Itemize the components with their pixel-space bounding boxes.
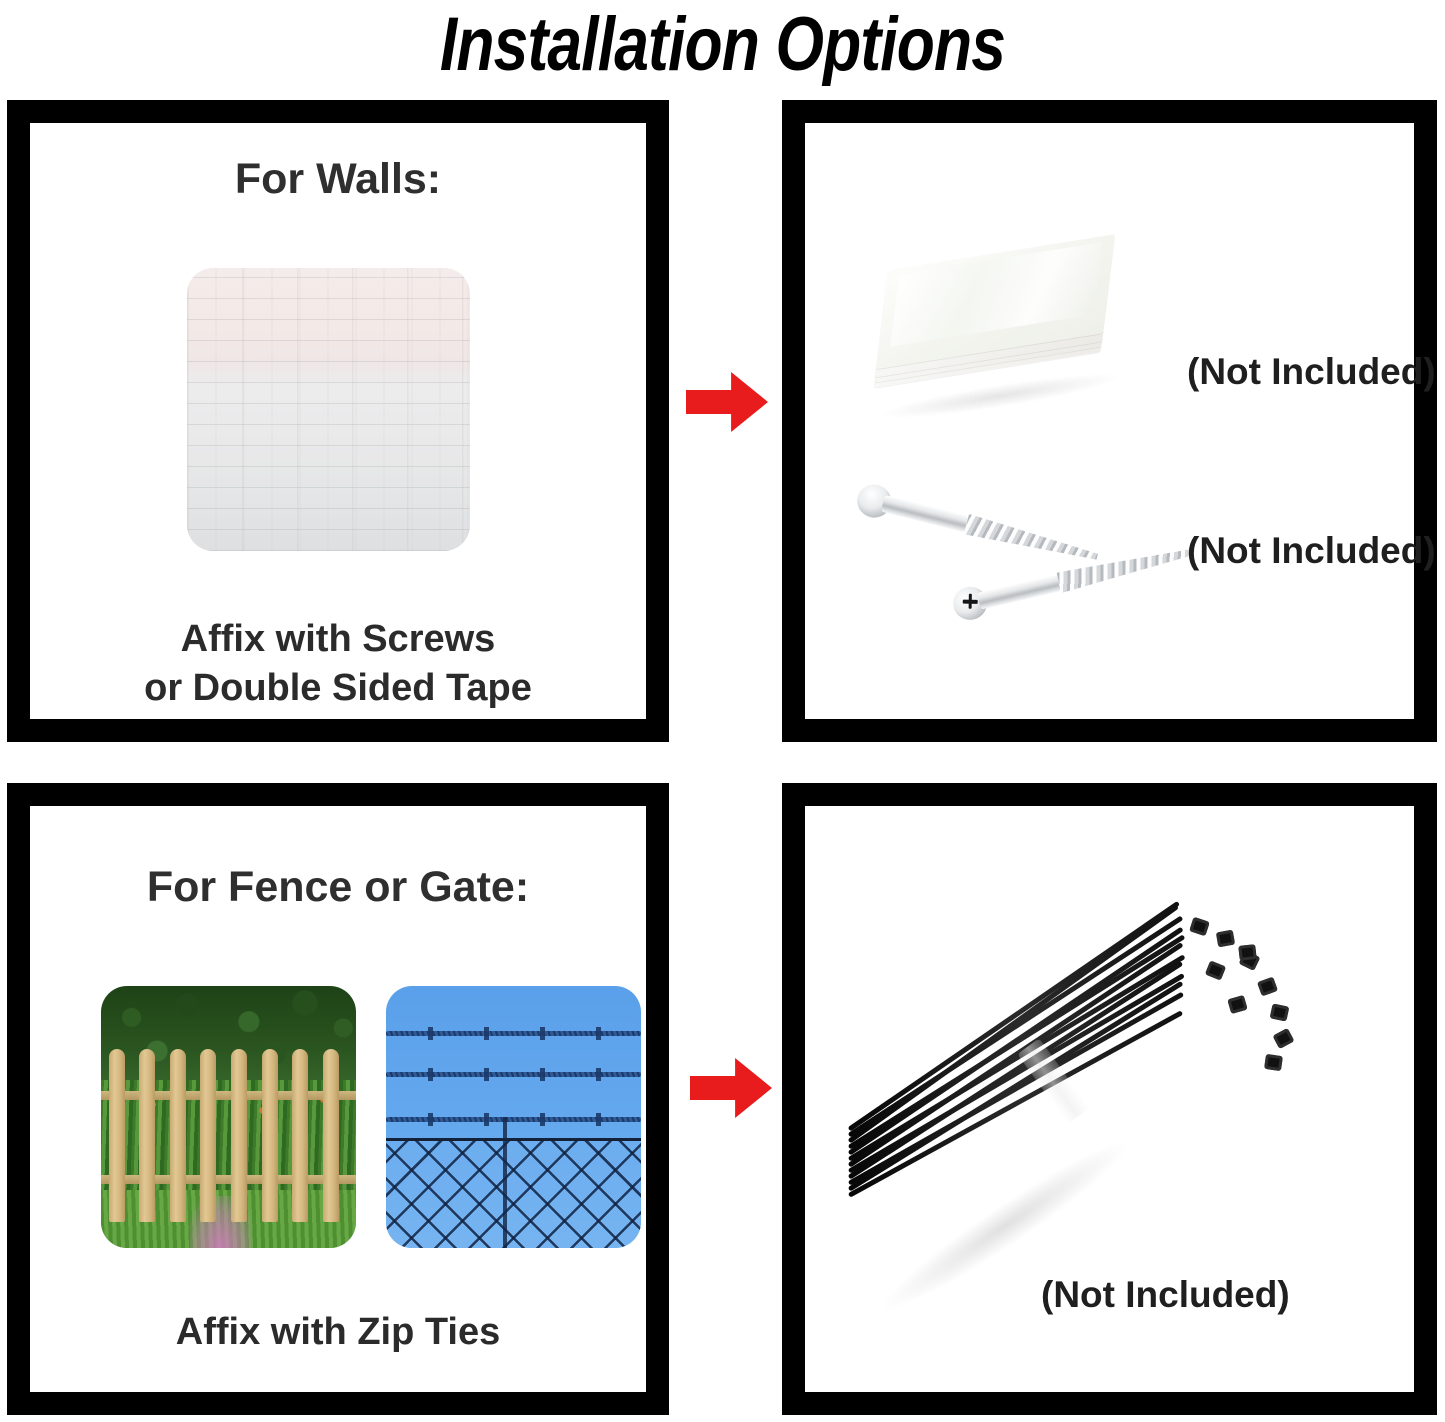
zip-ties-not-included-label: (Not Included) [1041,1274,1290,1316]
zip-tie-bundle-icon [835,901,1315,1251]
walls-heading: For Walls: [30,155,646,203]
walls-caption-line-1: Affix with Screws [30,615,646,664]
page-title: Installation Options [130,2,1315,88]
white-brick-wall-image [187,268,470,551]
fence-caption: Affix with Zip Ties [30,1308,646,1357]
walls-caption-line-2: or Double Sided Tape [30,664,646,713]
double-sided-tape-stack-icon [869,231,1135,425]
panel-zip-ties: (Not Included) [782,783,1437,1415]
red-right-arrow-icon-walls [686,372,768,432]
panel-for-fence-or-gate: For Fence or Gate: [7,783,669,1415]
fence-heading: For Fence or Gate: [30,863,646,911]
chain-link-fence-photo [386,986,641,1248]
picket-fence-photo [101,986,356,1248]
panel-wall-hardware: (Not Included) (Not Included) [782,100,1437,742]
red-right-arrow-icon-fence [690,1058,772,1118]
screws-not-included-label: (Not Included) [1187,530,1436,572]
panel-for-walls: For Walls: Affix with Screws or Double S… [7,100,669,742]
tape-not-included-label: (Not Included) [1187,351,1436,393]
